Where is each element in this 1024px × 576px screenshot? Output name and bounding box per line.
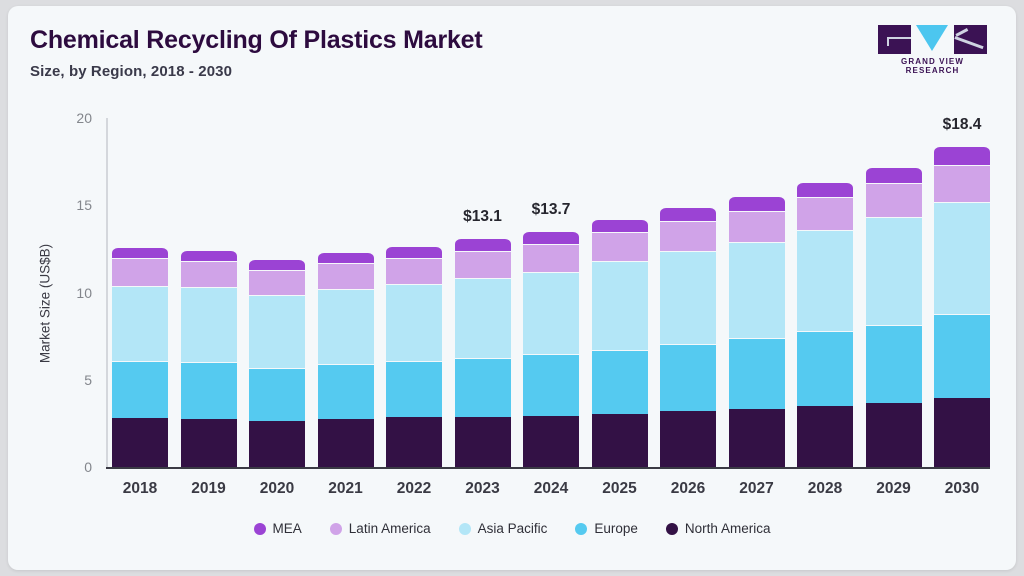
segment-latin-america[interactable] — [660, 221, 716, 251]
segment-north-america[interactable] — [386, 417, 442, 467]
segment-latin-america[interactable] — [592, 232, 648, 261]
segment-mea[interactable] — [729, 196, 785, 211]
legend-item-latin-america[interactable]: Latin America — [330, 521, 431, 536]
segment-latin-america[interactable] — [112, 258, 168, 285]
legend-label: Latin America — [349, 521, 431, 536]
segment-europe[interactable] — [112, 361, 168, 418]
segment-latin-america[interactable] — [318, 263, 374, 289]
segment-europe[interactable] — [318, 364, 374, 419]
segment-europe[interactable] — [592, 350, 648, 414]
y-axis-ticks: 05101520 — [48, 6, 92, 570]
bar-2021[interactable] — [318, 252, 374, 467]
y-axis-tick: 15 — [48, 197, 92, 213]
segment-mea[interactable] — [523, 231, 579, 243]
y-axis-tick: 10 — [48, 285, 92, 301]
bar-2022[interactable] — [386, 246, 442, 467]
stacked-bar-chart: 05101520 Market Size (US$B) $13.1$13.7$1… — [8, 6, 1016, 570]
legend-swatch-icon — [459, 523, 471, 535]
segment-north-america[interactable] — [318, 419, 374, 467]
segment-europe[interactable] — [249, 368, 305, 421]
y-axis-tick: 20 — [48, 110, 92, 126]
segment-latin-america[interactable] — [866, 183, 922, 217]
bar-2030[interactable] — [934, 146, 990, 467]
segment-latin-america[interactable] — [455, 251, 511, 278]
y-axis-title: Market Size (US$B) — [38, 189, 53, 419]
segment-mea[interactable] — [660, 207, 716, 221]
segment-north-america[interactable] — [866, 403, 922, 467]
segment-europe[interactable] — [386, 361, 442, 418]
bar-2018[interactable] — [112, 247, 168, 467]
segment-north-america[interactable] — [523, 416, 579, 467]
segment-north-america[interactable] — [112, 418, 168, 467]
y-axis-line — [106, 118, 108, 468]
chart-card: Chemical Recycling Of Plastics Market Si… — [8, 6, 1016, 570]
segment-asia-pacific[interactable] — [455, 278, 511, 358]
y-axis-tick: 0 — [48, 459, 92, 475]
legend-item-europe[interactable]: Europe — [575, 521, 638, 536]
segment-asia-pacific[interactable] — [729, 242, 785, 338]
segment-north-america[interactable] — [729, 409, 785, 467]
segment-mea[interactable] — [934, 146, 990, 165]
legend-item-north-america[interactable]: North America — [666, 521, 771, 536]
segment-europe[interactable] — [181, 362, 237, 419]
segment-latin-america[interactable] — [934, 165, 990, 202]
segment-north-america[interactable] — [934, 398, 990, 467]
segment-europe[interactable] — [660, 344, 716, 411]
segment-latin-america[interactable] — [729, 211, 785, 242]
legend-item-asia-pacific[interactable]: Asia Pacific — [459, 521, 548, 536]
bar-2025[interactable] — [592, 219, 648, 467]
bar-2024[interactable] — [523, 231, 579, 467]
segment-europe[interactable] — [523, 354, 579, 415]
legend-swatch-icon — [330, 523, 342, 535]
y-axis-tick: 5 — [48, 372, 92, 388]
segment-asia-pacific[interactable] — [660, 251, 716, 344]
segment-latin-america[interactable] — [181, 261, 237, 287]
chart-legend: MEALatin AmericaAsia PacificEuropeNorth … — [8, 521, 1016, 536]
bar-2019[interactable] — [181, 250, 237, 467]
segment-europe[interactable] — [934, 314, 990, 398]
segment-mea[interactable] — [866, 167, 922, 184]
segment-north-america[interactable] — [455, 417, 511, 467]
segment-latin-america[interactable] — [523, 244, 579, 272]
segment-asia-pacific[interactable] — [934, 202, 990, 315]
bar-2029[interactable] — [866, 167, 922, 467]
legend-swatch-icon — [254, 523, 266, 535]
segment-europe[interactable] — [729, 338, 785, 409]
segment-asia-pacific[interactable] — [318, 289, 374, 364]
segment-mea[interactable] — [249, 259, 305, 269]
legend-label: Europe — [594, 521, 638, 536]
bar-2028[interactable] — [797, 182, 853, 467]
segment-north-america[interactable] — [660, 411, 716, 467]
segment-north-america[interactable] — [797, 406, 853, 467]
segment-asia-pacific[interactable] — [523, 272, 579, 355]
segment-asia-pacific[interactable] — [866, 217, 922, 324]
bar-2020[interactable] — [249, 259, 305, 467]
segment-asia-pacific[interactable] — [592, 261, 648, 350]
segment-europe[interactable] — [866, 325, 922, 404]
segment-latin-america[interactable] — [249, 270, 305, 295]
segment-north-america[interactable] — [249, 421, 305, 467]
bar-2027[interactable] — [729, 196, 785, 467]
segment-mea[interactable] — [318, 252, 374, 262]
segment-north-america[interactable] — [592, 414, 648, 467]
legend-swatch-icon — [666, 523, 678, 535]
x-axis-line — [106, 467, 990, 469]
segment-europe[interactable] — [797, 331, 853, 406]
x-axis-tick-2030: 2030 — [918, 480, 1006, 498]
bar-value-label: $13.7 — [507, 201, 595, 219]
segment-latin-america[interactable] — [797, 197, 853, 229]
legend-label: MEA — [273, 521, 302, 536]
segment-europe[interactable] — [455, 358, 511, 417]
segment-mea[interactable] — [592, 219, 648, 232]
segment-asia-pacific[interactable] — [112, 286, 168, 362]
segment-north-america[interactable] — [181, 419, 237, 467]
bar-2023[interactable] — [455, 238, 511, 467]
segment-mea[interactable] — [455, 238, 511, 250]
segment-mea[interactable] — [797, 182, 853, 198]
segment-latin-america[interactable] — [386, 258, 442, 284]
segment-asia-pacific[interactable] — [797, 230, 853, 331]
bar-2026[interactable] — [660, 207, 716, 467]
legend-swatch-icon — [575, 523, 587, 535]
bar-value-label: $18.4 — [918, 116, 1006, 134]
legend-label: North America — [685, 521, 771, 536]
legend-label: Asia Pacific — [478, 521, 548, 536]
segment-mea[interactable] — [386, 246, 442, 257]
segment-asia-pacific[interactable] — [181, 287, 237, 362]
segment-mea[interactable] — [181, 250, 237, 261]
segment-asia-pacific[interactable] — [249, 295, 305, 367]
segment-mea[interactable] — [112, 247, 168, 258]
segment-asia-pacific[interactable] — [386, 284, 442, 361]
legend-item-mea[interactable]: MEA — [254, 521, 302, 536]
